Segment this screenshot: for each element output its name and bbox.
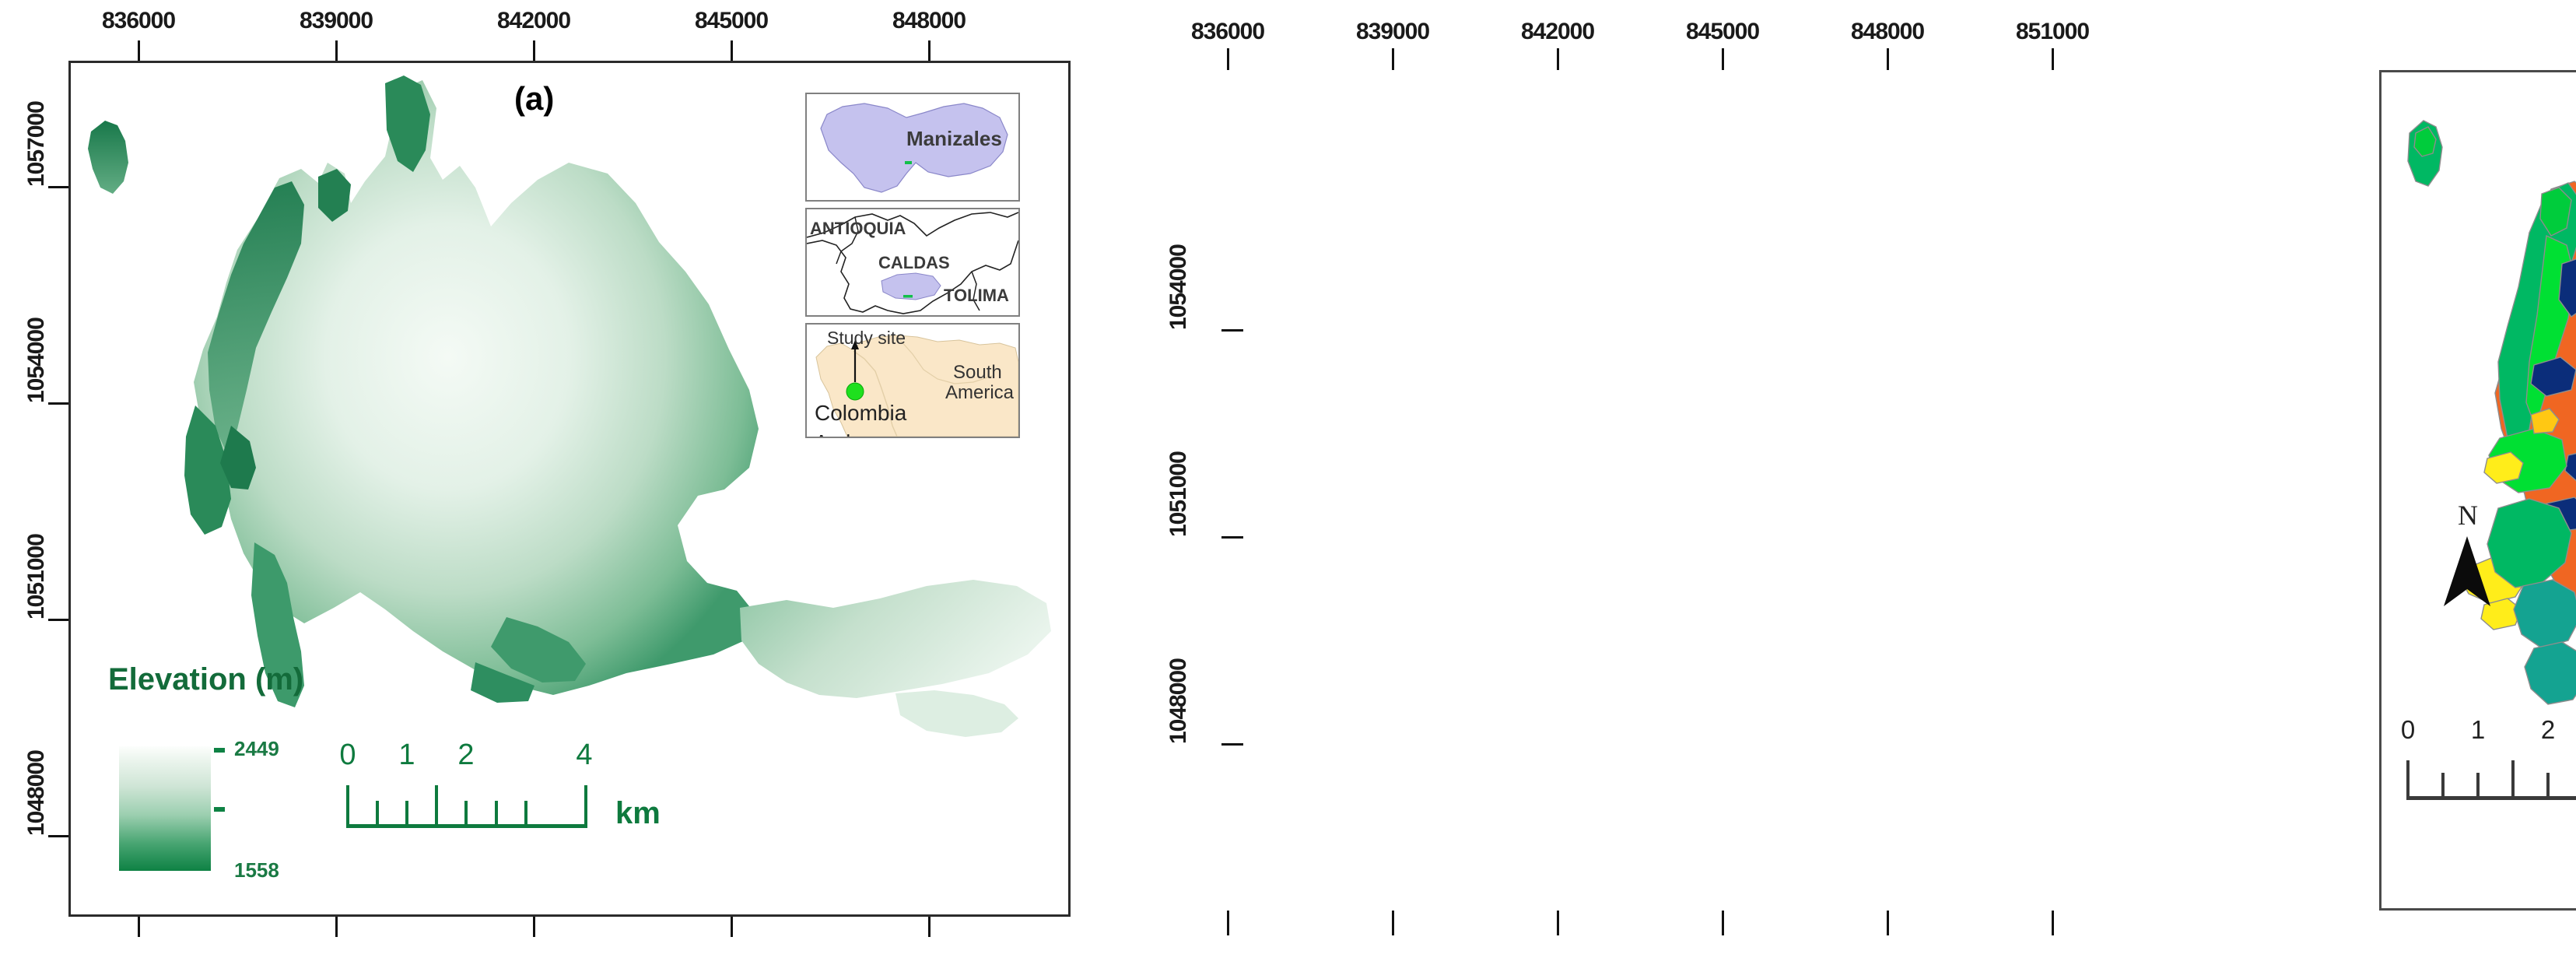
x-tick-mark: [1392, 48, 1394, 70]
y-tick-label: 1048000: [1165, 604, 1192, 744]
north-arrow-label: N: [2458, 499, 2478, 532]
y-tick-label: 1048000: [23, 696, 50, 836]
scalebar-tick: [2511, 760, 2515, 798]
scalebar-tick: [584, 785, 587, 826]
scalebar-label: 1: [2471, 715, 2485, 745]
x-tick-mark: [731, 40, 733, 61]
scalebar-tick: [376, 801, 379, 826]
x-tick-mark: [138, 40, 140, 61]
inset-label-antioquia: ANTIOQUIA: [810, 219, 906, 239]
x-tick-mark-bottom: [2052, 911, 2054, 935]
x-tick-mark: [335, 40, 338, 61]
y-tick-mark: [48, 402, 68, 405]
x-tick-label: 839000: [1356, 19, 1429, 45]
scalebar-tick: [2441, 773, 2445, 798]
x-tick-mark: [1557, 48, 1559, 70]
x-tick-label: 851000: [2016, 19, 2089, 45]
y-tick-mark: [1221, 743, 1243, 746]
elevation-legend-title: Elevation (m): [108, 662, 303, 697]
scalebar-label: 0: [2401, 715, 2415, 745]
scalebar-tick: [495, 801, 498, 826]
x-tick-mark: [1887, 48, 1889, 70]
x-tick-mark-bottom: [1557, 911, 1559, 935]
y-tick-label: 1054000: [1165, 190, 1192, 330]
scalebar-tick: [2406, 760, 2410, 798]
inset-label-south: South: [953, 362, 1002, 384]
dem-outlier-patch: [88, 121, 128, 194]
scalebar-tick: [464, 801, 468, 826]
scalebar-label: 1: [398, 739, 415, 772]
elevation-min-label: 1558: [234, 858, 279, 883]
scalebar-tick: [2476, 773, 2480, 798]
y-tick-mark: [48, 619, 68, 621]
inset-map-municipality: Manizales: [805, 93, 1020, 202]
panel-b-geology-map: 836000 839000 842000 845000 848000 85100…: [1136, 0, 2576, 965]
y-tick-label: 1057000: [23, 47, 50, 187]
y-tick-mark: [48, 835, 68, 837]
inset-label-tolima: TOLIMA: [944, 286, 1009, 306]
inset-label-study-site: Study site: [827, 328, 906, 349]
y-tick-label: 1054000: [23, 263, 50, 403]
x-tick-label: 845000: [1686, 19, 1759, 45]
x-tick-mark: [533, 40, 535, 61]
x-tick-label: 845000: [695, 8, 768, 34]
x-tick-label: 839000: [300, 8, 373, 34]
scalebar-baseline: [2406, 796, 2576, 800]
x-tick-mark-bottom: [533, 917, 535, 937]
north-arrow: N: [2427, 502, 2520, 634]
elevation-color-ramp: [119, 746, 211, 871]
x-tick-mark-bottom: [928, 917, 931, 937]
scalebar-tick: [435, 785, 438, 826]
scalebar-unit: km: [615, 796, 661, 831]
elevation-max-label: 2449: [234, 737, 279, 761]
x-tick-mark-bottom: [138, 917, 140, 937]
scalebar-tick: [524, 801, 527, 826]
x-tick-mark-bottom: [1392, 911, 1394, 935]
elevation-tick-mid: [214, 807, 225, 812]
y-tick-mark: [1221, 536, 1243, 539]
x-tick-mark: [1722, 48, 1724, 70]
scalebar-tick: [405, 801, 408, 826]
y-tick-mark: [1221, 329, 1243, 332]
x-tick-mark: [1227, 48, 1229, 70]
inset-label-andes: Andes: [815, 430, 872, 438]
x-tick-label: 836000: [102, 8, 175, 34]
panel-a-map-frame: (a): [68, 61, 1071, 917]
x-tick-mark-bottom: [1227, 911, 1229, 935]
scalebar-label: 4: [576, 739, 592, 772]
y-tick-mark: [48, 186, 68, 188]
x-tick-mark: [928, 40, 931, 61]
scalebar-tick: [2546, 773, 2550, 798]
scalebar-label: 2: [2541, 715, 2555, 745]
x-tick-mark-bottom: [731, 917, 733, 937]
x-tick-label: 848000: [1851, 19, 1924, 45]
panel-b-map-frame: (b): [2379, 70, 2576, 911]
inset-map-departments: ANTIOQUIA CALDAS TOLIMA: [805, 208, 1020, 317]
x-tick-mark: [2052, 48, 2054, 70]
elevation-tick-max: [214, 748, 225, 753]
x-tick-label: 842000: [497, 8, 570, 34]
y-tick-label: 1051000: [1165, 397, 1192, 537]
scalebar-label: 0: [339, 739, 356, 772]
y-tick-label: 1051000: [23, 479, 50, 619]
inset-label-caldas: CALDAS: [878, 253, 950, 273]
scalebar-label: 2: [457, 739, 474, 772]
dem-southeast-tail: [740, 580, 1051, 698]
x-tick-mark-bottom: [335, 917, 338, 937]
x-tick-mark-bottom: [1722, 911, 1724, 935]
dem-tail-lobe: [895, 690, 1018, 737]
scalebar-tick: [346, 785, 349, 826]
inset-label-america: America: [945, 382, 1014, 404]
x-tick-mark-bottom: [1887, 911, 1889, 935]
panel-a-elevation-map: 836000 839000 842000 845000 848000 10570…: [0, 0, 1136, 965]
inset-map-continent: Study site South America Colombia Andes: [805, 323, 1020, 438]
x-tick-label: 836000: [1191, 19, 1264, 45]
x-tick-label: 842000: [1521, 19, 1594, 45]
inset-label-colombia: Colombia: [815, 401, 906, 426]
inset-label-manizales: Manizales: [906, 127, 1002, 151]
x-tick-label: 848000: [892, 8, 966, 34]
